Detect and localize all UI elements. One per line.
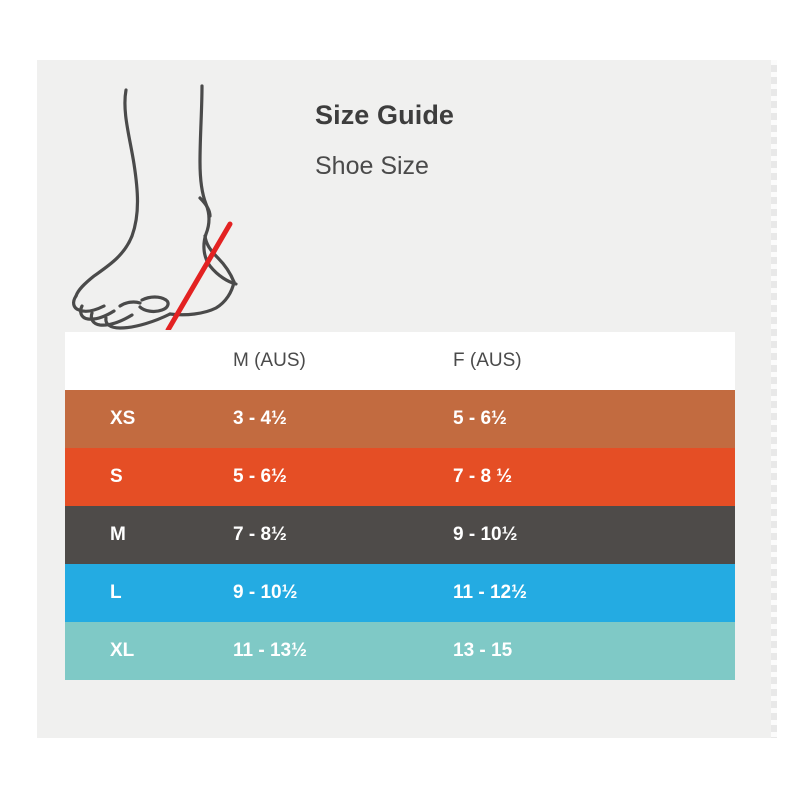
cell-m-aus: 9 - 10½ (233, 564, 453, 622)
cell-m-aus: 5 - 6½ (233, 448, 453, 506)
cell-f-aus: 9 - 10½ (453, 506, 735, 564)
cell-size-label: M (65, 506, 233, 564)
table-header-row: M (AUS) F (AUS) (65, 332, 735, 390)
card-perforated-edge (771, 60, 777, 738)
cell-f-aus: 5 - 6½ (453, 390, 735, 448)
table-row: XS 3 - 4½ 5 - 6½ (65, 390, 735, 448)
size-guide-card: Size Guide Shoe Size M (AUS) F (AUS) XS … (37, 60, 777, 738)
page-title: Size Guide (315, 98, 715, 132)
table-row: S 5 - 6½ 7 - 8 ½ (65, 448, 735, 506)
column-header-size (65, 332, 233, 390)
page-subtitle: Shoe Size (315, 149, 715, 183)
cell-m-aus: 3 - 4½ (233, 390, 453, 448)
cell-m-aus: 11 - 13½ (233, 622, 453, 680)
cell-size-label: L (65, 564, 233, 622)
cell-size-label: XL (65, 622, 233, 680)
cell-f-aus: 13 - 15 (453, 622, 735, 680)
column-header-f-aus: F (AUS) (453, 332, 735, 390)
table-row: L 9 - 10½ 11 - 12½ (65, 564, 735, 622)
cell-f-aus: 7 - 8 ½ (453, 448, 735, 506)
cell-size-label: S (65, 448, 233, 506)
cell-m-aus: 7 - 8½ (233, 506, 453, 564)
foot-illustration (60, 68, 290, 330)
column-header-m-aus: M (AUS) (233, 332, 453, 390)
table-row: XL 11 - 13½ 13 - 15 (65, 622, 735, 680)
size-chart-table: M (AUS) F (AUS) XS 3 - 4½ 5 - 6½ S 5 - 6… (65, 332, 735, 680)
heading-block: Size Guide Shoe Size (315, 98, 715, 183)
cell-f-aus: 11 - 12½ (453, 564, 735, 622)
size-guide-page: Size Guide Shoe Size M (AUS) F (AUS) XS … (0, 0, 800, 800)
table-row: M 7 - 8½ 9 - 10½ (65, 506, 735, 564)
cell-size-label: XS (65, 390, 233, 448)
